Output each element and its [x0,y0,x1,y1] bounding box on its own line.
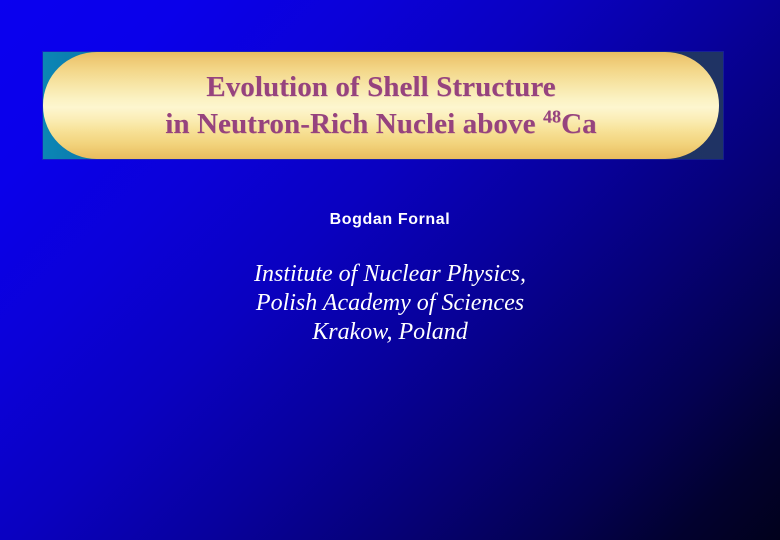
title-line-2: in Neutron-Rich Nuclei above 48Ca [165,106,597,143]
affiliation-line-2: Polish Academy of Sciences [0,289,780,318]
affiliation-line-3: Krakow, Poland [0,318,780,347]
title-banner: Evolution of Shell Structure in Neutron-… [43,52,723,159]
title-line-2-text: in Neutron-Rich Nuclei above [165,108,543,140]
presentation-slide: Evolution of Shell Structure in Neutron-… [0,0,780,540]
title-line-1: Evolution of Shell Structure [206,69,555,106]
slide-title: Evolution of Shell Structure in Neutron-… [43,52,719,159]
affiliation-line-1: Institute of Nuclear Physics, [0,260,780,289]
author-name: Bogdan Fornal [0,211,780,229]
mass-number-superscript: 48 [543,106,561,126]
affiliation-block: Institute of Nuclear Physics, Polish Aca… [0,260,780,347]
element-symbol: Ca [561,108,597,140]
